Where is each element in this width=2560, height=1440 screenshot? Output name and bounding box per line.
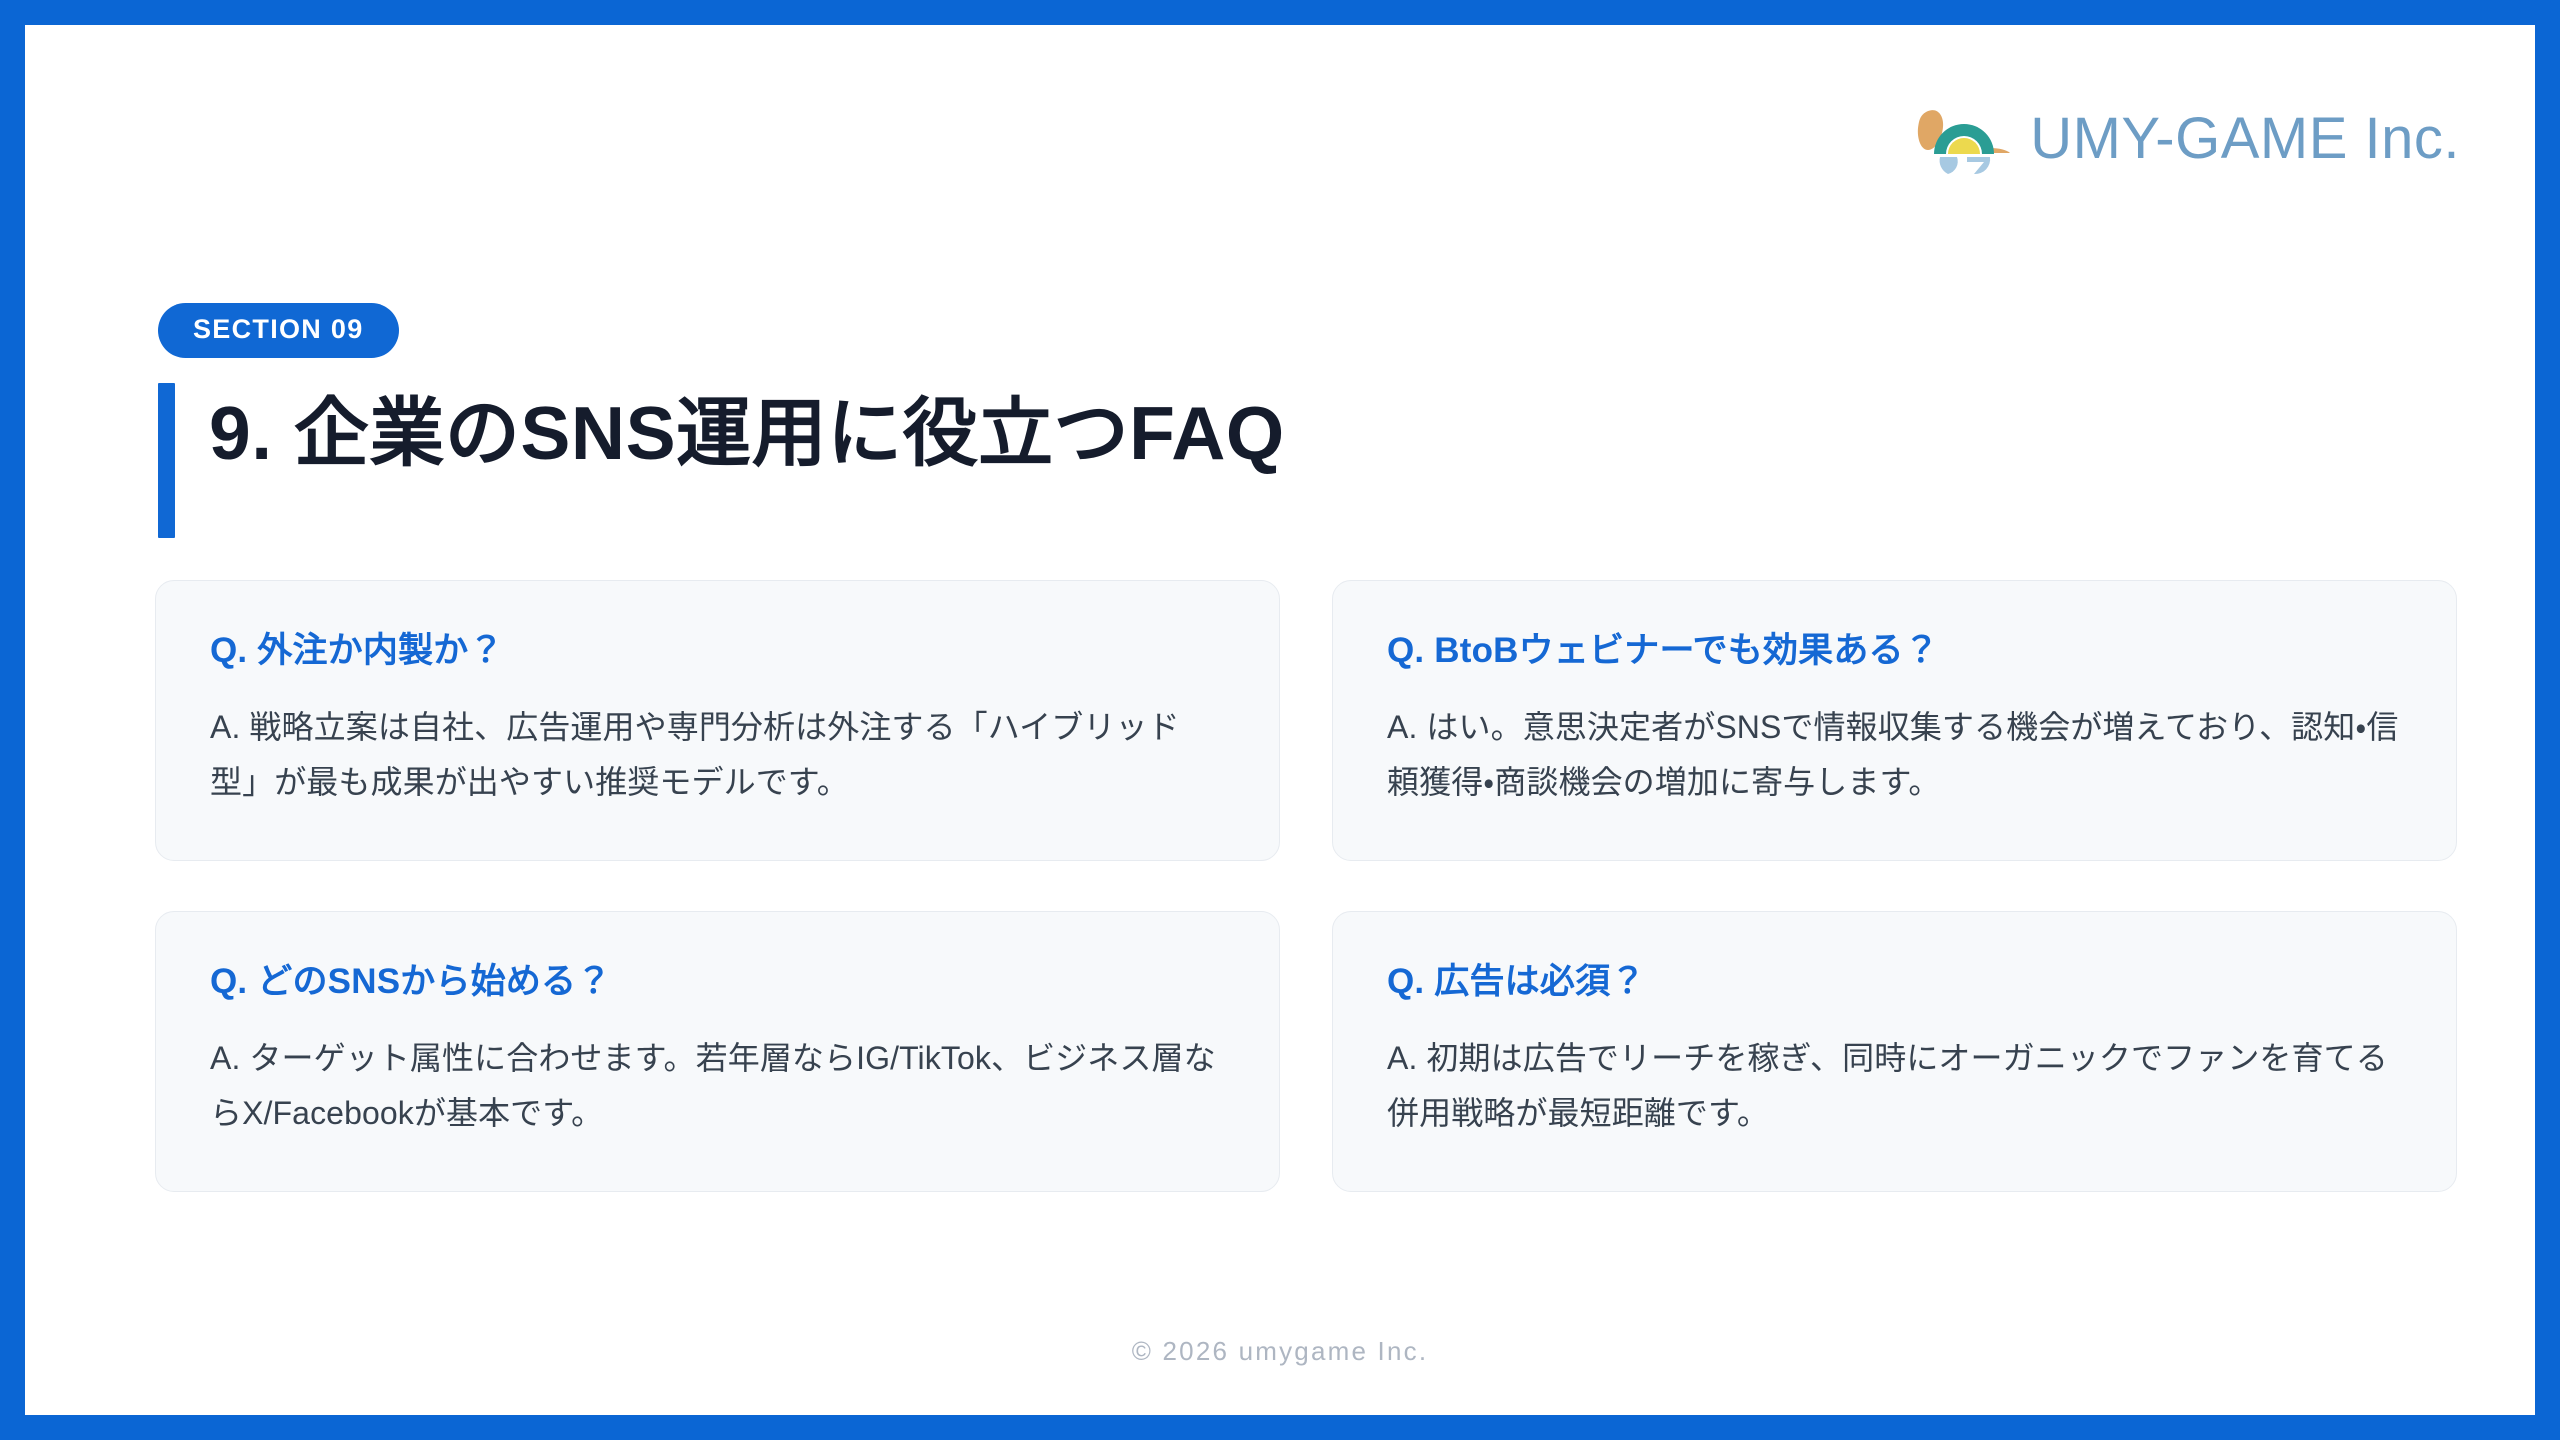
page-title: 9. 企業のSNS運用に役立つFAQ bbox=[209, 379, 1285, 488]
slide-content-area: UMY-GAME Inc. SECTION 09 9. 企業のSNS運用に役立つ… bbox=[25, 25, 2535, 1415]
brand-logo-text: UMY-GAME Inc. bbox=[2030, 110, 2460, 168]
faq-answer: A. ターゲット属性に合わせます。若年層ならIG/TikTok、ビジネス層ならX… bbox=[210, 1031, 1225, 1141]
faq-question: Q. 広告は必須？ bbox=[1387, 958, 2402, 1005]
faq-card[interactable]: Q. 広告は必須？ A. 初期は広告でリーチを稼ぎ、同時にオーガニックでファンを… bbox=[1332, 911, 2457, 1192]
faq-card[interactable]: Q. どのSNSから始める？ A. ターゲット属性に合わせます。若年層ならIG/… bbox=[155, 911, 1280, 1192]
faq-answer: A. 戦略立案は自社、広告運用や専門分析は外注する「ハイブリッド型」が最も成果が… bbox=[210, 700, 1225, 810]
section-badge: SECTION 09 bbox=[158, 303, 399, 358]
faq-card[interactable]: Q. BtoBウェビナーでも効果ある？ A. はい。意思決定者がSNSで情報収集… bbox=[1332, 580, 2457, 861]
title-accent-bar bbox=[158, 383, 175, 538]
faq-answer: A. 初期は広告でリーチを稼ぎ、同時にオーガニックでファンを育てる併用戦略が最短… bbox=[1387, 1031, 2402, 1141]
slide-root: UMY-GAME Inc. SECTION 09 9. 企業のSNS運用に役立つ… bbox=[0, 0, 2560, 1440]
footer-copyright: © 2026 umygame Inc. bbox=[25, 1336, 2535, 1367]
faq-question: Q. どのSNSから始める？ bbox=[210, 958, 1225, 1005]
faq-card[interactable]: Q. 外注か内製か？ A. 戦略立案は自社、広告運用や専門分析は外注する「ハイブ… bbox=[155, 580, 1280, 861]
faq-question: Q. BtoBウェビナーでも効果ある？ bbox=[1387, 627, 2402, 674]
brand-logo: UMY-GAME Inc. bbox=[1910, 98, 2460, 180]
umy-game-rainbow-mark-icon bbox=[1910, 98, 2014, 180]
faq-card-grid: Q. 外注か内製か？ A. 戦略立案は自社、広告運用や専門分析は外注する「ハイブ… bbox=[155, 580, 2457, 1192]
faq-question: Q. 外注か内製か？ bbox=[210, 627, 1225, 674]
page-title-block: 9. 企業のSNS運用に役立つFAQ bbox=[158, 383, 1285, 538]
faq-answer: A. はい。意思決定者がSNSで情報収集する機会が増えており、認知・信頼獲得・商… bbox=[1387, 700, 2402, 810]
